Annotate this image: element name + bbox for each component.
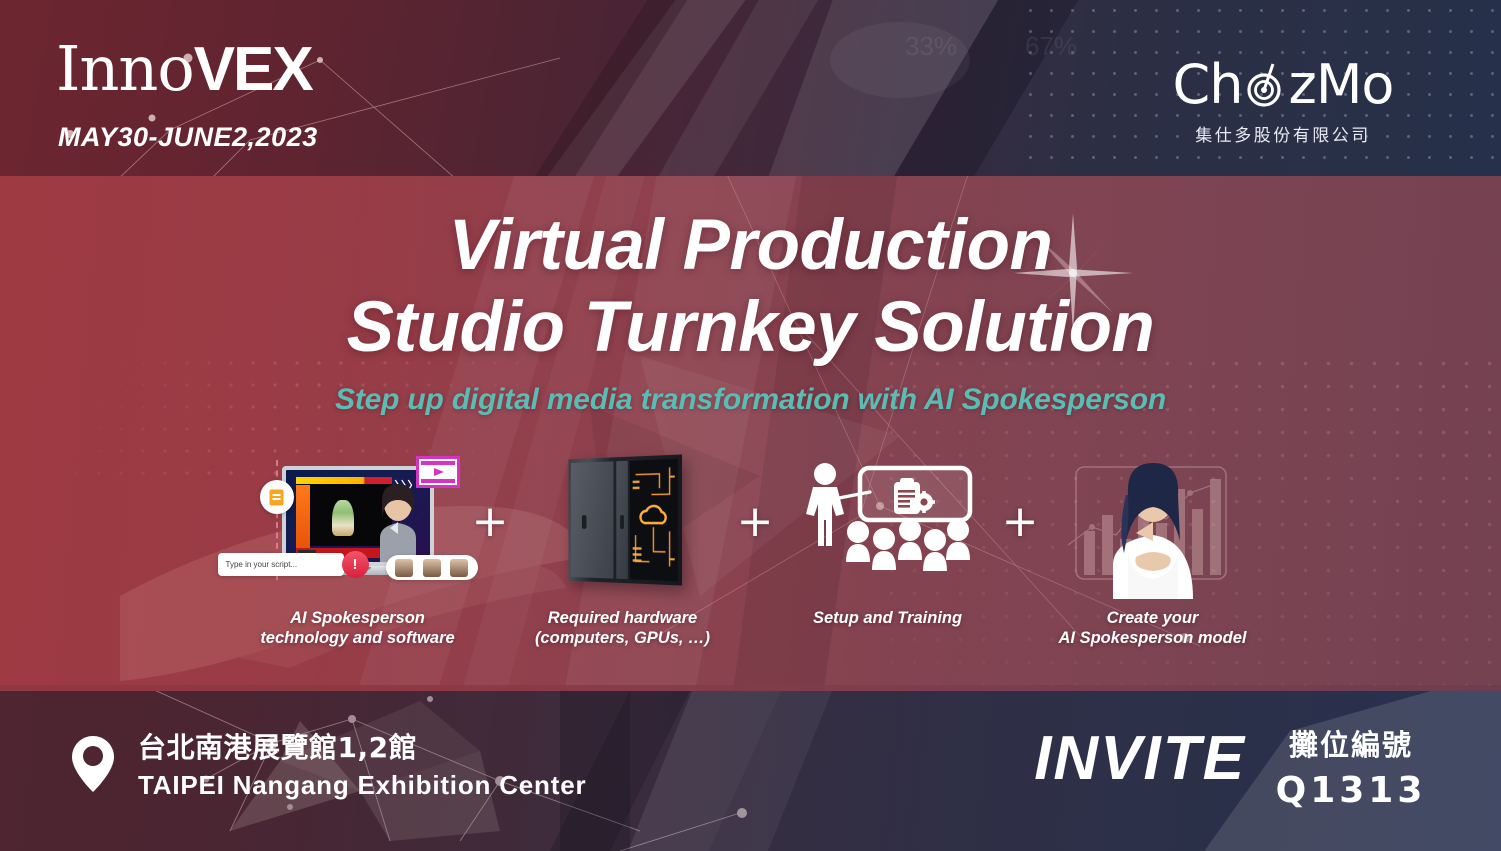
innovex-logo-prefix: Inno [56, 32, 194, 105]
target-dart-icon [1240, 60, 1290, 110]
laptop-ai-spokesperson-icon: 〉〉〉 [250, 448, 465, 600]
venue-name-en: TAIPEI Nangang Exhibition Center [138, 770, 586, 801]
invite-label: INVITE [1034, 728, 1246, 790]
jade-artifact-graphic [332, 500, 354, 536]
feature-caption: Setup and Training [813, 608, 962, 628]
feature-row: 〉〉〉 [250, 448, 1260, 648]
plus-separator-1: + [472, 500, 509, 544]
training-classroom-icon [780, 448, 995, 600]
innovex-logo: InnoVEX [56, 38, 312, 101]
booth-number: Q1313 [1261, 770, 1441, 811]
choozmo-logo-part-a: Ch [1173, 58, 1243, 112]
feature-item-ai-spokesperson: 〉〉〉 [250, 448, 465, 648]
server-interior-glow [629, 459, 677, 581]
innovex-logo-suffix: VEX [194, 35, 312, 104]
training-graphic [798, 454, 978, 594]
plus-separator-2: + [737, 500, 774, 544]
feature-item-training: Setup and Training [780, 448, 995, 628]
hero-text-block: Virtual Production Studio Turnkey Soluti… [0, 205, 1501, 417]
event-dates: MAY30-JUNE2,2023 [58, 122, 318, 153]
record-button[interactable]: ! [342, 551, 369, 578]
company-name-cn: 集仕多股份有限公司 [1123, 121, 1443, 146]
script-input[interactable]: Type in your script... [218, 553, 344, 576]
promotional-banner: 33% 67% InnoVEX MAY30-JUNE2,2023 Ch zMo … [0, 0, 1501, 851]
venue-block: 台北南港展覽館1,2館 TAIPEI Nangang Exhibition Ce… [70, 726, 586, 801]
feature-caption: Create your AI Spokesperson model [1059, 608, 1247, 648]
server-door-left [571, 461, 613, 578]
hero-title-line2: Studio Turnkey Solution [0, 287, 1501, 369]
avatar-thumbnails[interactable] [386, 555, 478, 580]
spokesperson-model-icon [1045, 448, 1260, 600]
hero-subtitle: Step up digital media transformation wit… [0, 383, 1501, 417]
plus-separator-3: + [1002, 500, 1039, 544]
server-door-right [616, 461, 628, 579]
film-play-icon [416, 456, 460, 488]
spokesperson-graphic [1058, 449, 1248, 599]
booth-block: 攤位編號 Q1313 [1261, 722, 1441, 811]
feature-caption: Required hardware (computers, GPUs, …) [535, 608, 710, 648]
screen-side-panel [296, 485, 310, 548]
venue-name-cn: 台北南港展覽館1,2館 [138, 726, 586, 766]
choozmo-logo-part-b: zMo [1288, 58, 1393, 112]
presenter-figure [372, 478, 424, 562]
circuit-lines [629, 459, 677, 581]
feature-item-hardware: Required hardware (computers, GPUs, …) [515, 448, 730, 648]
choozmo-logo: Ch zMo 集仕多股份有限公司 [1123, 58, 1443, 146]
avatar[interactable] [450, 559, 468, 577]
server-rack-icon [515, 448, 730, 600]
feature-caption: AI Spokesperson technology and software [260, 608, 454, 648]
map-pin-icon [70, 734, 116, 794]
svg-text:67%: 67% [1025, 31, 1077, 61]
hero-title-line1: Virtual Production [0, 205, 1501, 287]
choozmo-wordmark: Ch zMo [1123, 58, 1443, 112]
booth-label: 攤位編號 [1261, 722, 1441, 764]
avatar[interactable] [423, 559, 441, 577]
feature-item-model: Create your AI Spokesperson model [1045, 448, 1260, 648]
document-icon [260, 480, 294, 514]
avatar[interactable] [395, 559, 413, 577]
svg-text:33%: 33% [905, 31, 957, 61]
